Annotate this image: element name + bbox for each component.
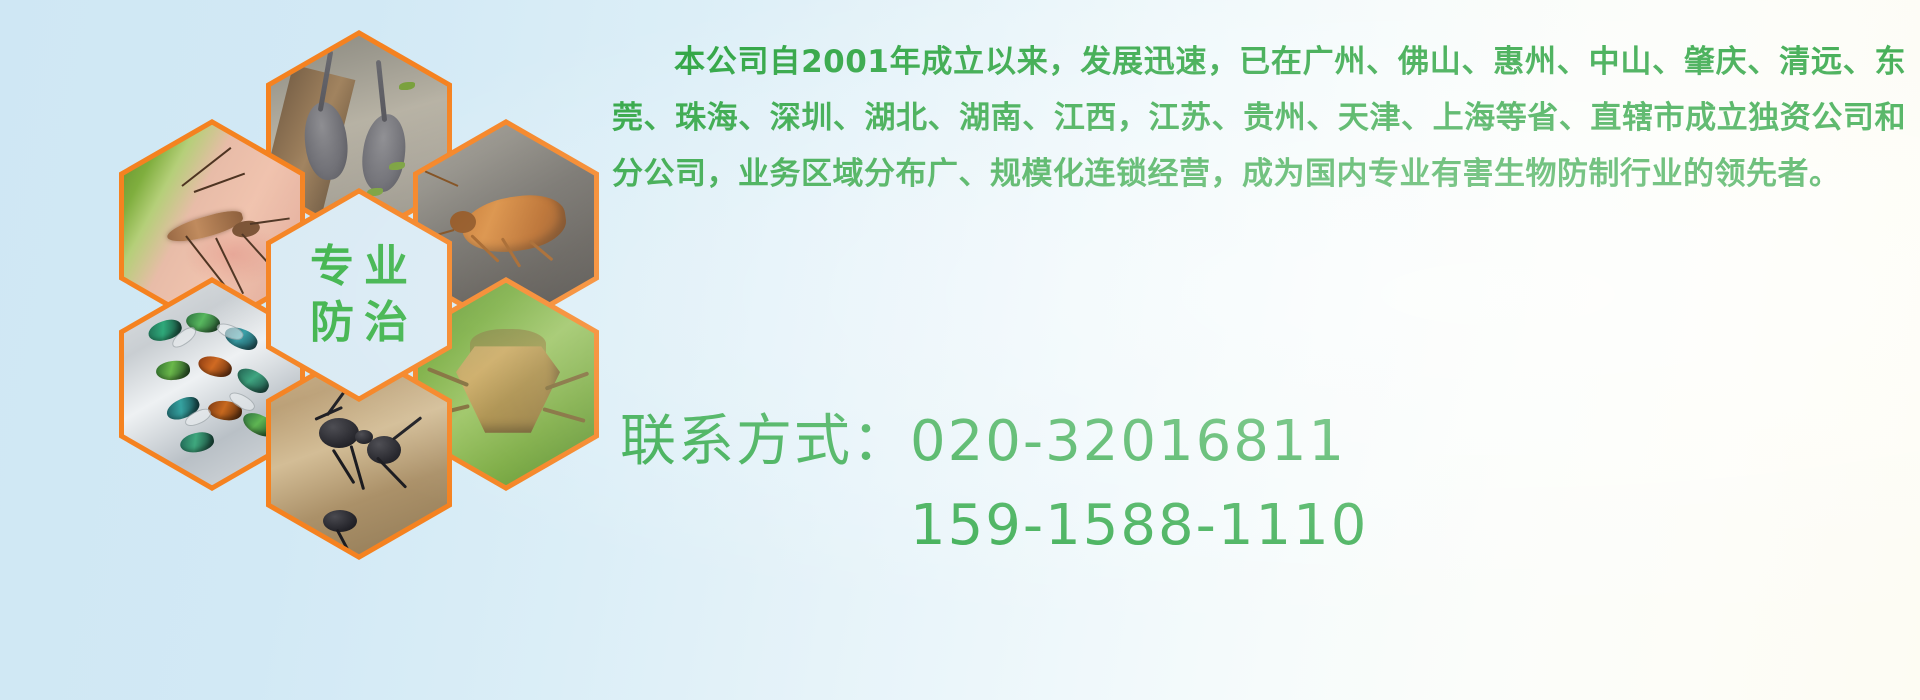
description-paragraph: 本公司自2001年成立以来，发展迅速，已在广州、佛山、惠州、中山、肇庆、清远、东…: [612, 34, 1906, 202]
phone-secondary[interactable]: 159-1588-1110: [910, 493, 1368, 558]
honeycomb-collage: 专业 防治: [88, 6, 588, 566]
contact-label: 联系方式：: [620, 409, 910, 474]
slogan-line-2: 防治: [300, 300, 418, 346]
contact-block: 联系方式：020-32016811 159-1588-1110: [620, 400, 1900, 568]
company-description: 本公司自2001年成立以来，发展迅速，已在广州、佛山、惠州、中山、肇庆、清远、东…: [612, 34, 1906, 202]
contact-primary-line: 联系方式：020-32016811: [620, 400, 1900, 484]
phone-primary[interactable]: 020-32016811: [910, 409, 1346, 474]
slogan-line-1: 专业: [300, 244, 418, 290]
promo-banner: 专业 防治 本公司自2001年成立以来，发展迅速，已在广州、佛山、惠州、中山、肇…: [0, 0, 1920, 700]
contact-secondary-line: 159-1588-1110: [620, 484, 1900, 568]
